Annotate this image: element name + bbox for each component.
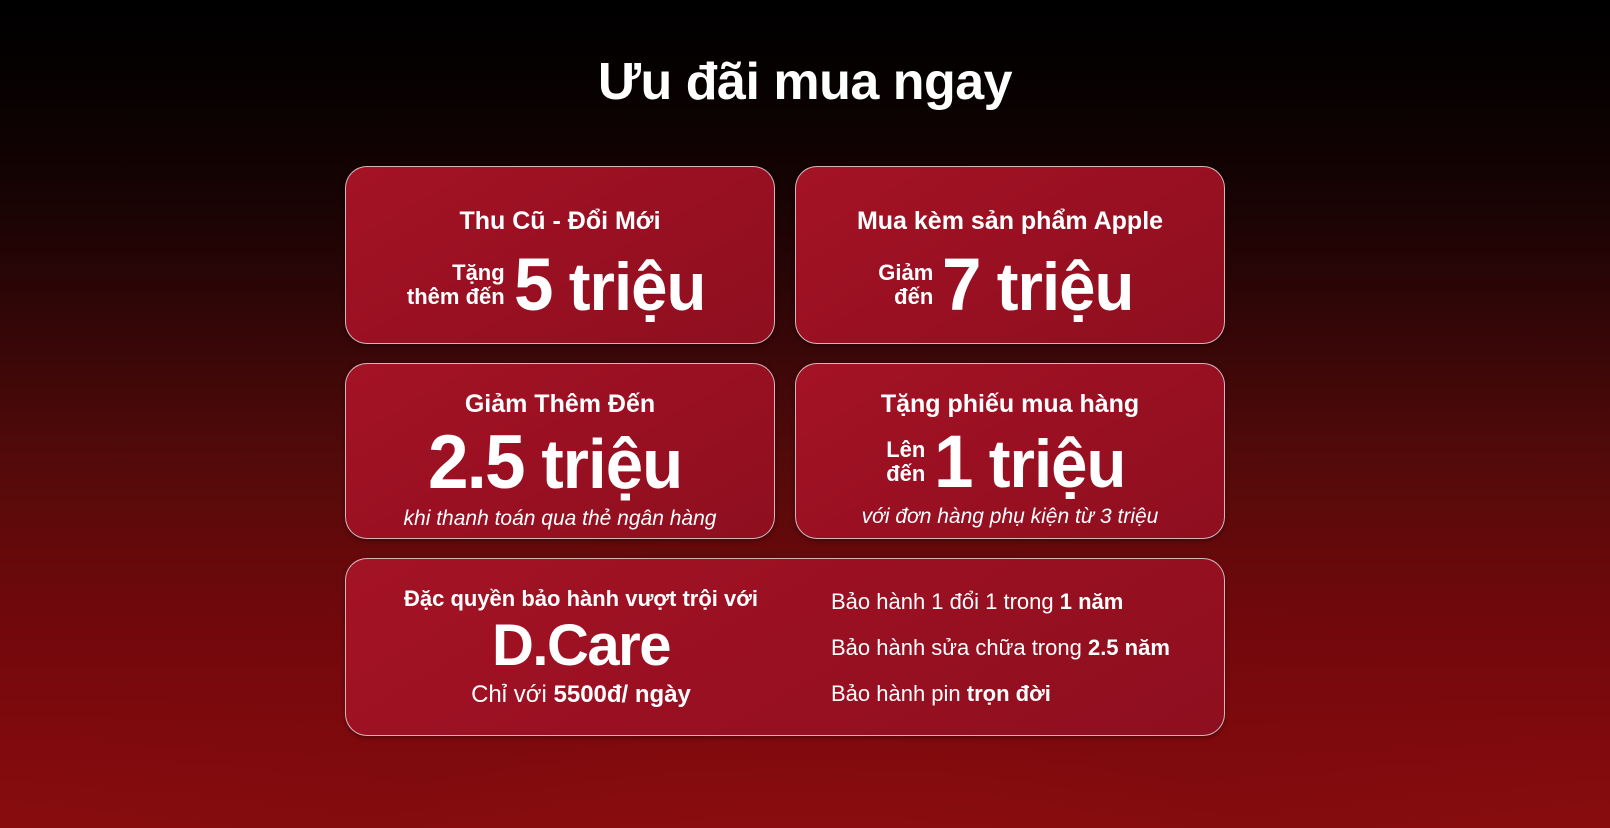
offer-amount-line: 2.5 triệu: [364, 425, 756, 501]
warranty-benefit-highlight: trọn đời: [967, 681, 1051, 706]
warranty-brand-name: D.Care: [492, 616, 670, 677]
offer-card-voucher[interactable]: Tặng phiếu mua hàng Lên đến 1 triệu với …: [795, 363, 1225, 539]
page-title: Ưu đãi mua ngay: [0, 54, 1610, 111]
offer-label-line2: đến: [886, 462, 925, 486]
offer-value-number: 2.5: [428, 420, 524, 505]
warranty-benefit-item: Bảo hành sửa chữa trong 2.5 năm: [831, 636, 1204, 660]
offer-value-unit: triệu: [541, 425, 682, 503]
warranty-benefit-highlight: 1 năm: [1060, 589, 1124, 614]
warranty-benefit-item: Bảo hành 1 đổi 1 trong 1 năm: [831, 590, 1204, 614]
offer-card-apple-bundle[interactable]: Mua kèm sản phẩm Apple Giảm đến 7 triệu: [795, 166, 1225, 344]
warranty-benefit-text: Bảo hành 1 đổi 1 trong: [831, 589, 1060, 614]
warranty-price-prefix: Chỉ với: [471, 681, 553, 708]
offer-value-number: 5: [514, 243, 552, 326]
offer-label-line1: Giảm: [878, 261, 933, 285]
promo-banner: Ưu đãi mua ngay Thu Cũ - Đổi Mới Tặng th…: [0, 0, 1610, 828]
offer-card-bank-discount[interactable]: Giảm Thêm Đến 2.5 triệu khi thanh toán q…: [345, 363, 775, 539]
offer-cards-grid: Thu Cũ - Đổi Mới Tặng thêm đến 5 triệu M…: [345, 166, 1225, 755]
warranty-benefit-text: Bảo hành sửa chữa trong: [831, 635, 1088, 660]
offer-value-number: 7: [942, 243, 980, 326]
offer-row-3: Đặc quyền bảo hành vượt trội với D.Care …: [345, 558, 1225, 736]
offer-amount-line: Giảm đến 7 triệu: [814, 248, 1206, 322]
offer-label-line2: đến: [878, 285, 933, 309]
offer-label: Tặng thêm đến: [407, 261, 505, 309]
warranty-benefits-list: Bảo hành 1 đổi 1 trong 1 năm Bảo hành sử…: [796, 573, 1204, 721]
warranty-benefit-text: Bảo hành pin: [831, 681, 967, 706]
offer-card-note: với đơn hàng phụ kiện từ 3 triệu: [862, 505, 1159, 528]
offer-amount-line: Tặng thêm đến 5 triệu: [364, 248, 756, 322]
offer-card-title: Mua kèm sản phẩm Apple: [857, 207, 1163, 236]
warranty-card-left: Đặc quyền bảo hành vượt trội với D.Care …: [366, 573, 796, 721]
offer-card-title: Giảm Thêm Đến: [465, 390, 655, 419]
offer-card-tradein[interactable]: Thu Cũ - Đổi Mới Tặng thêm đến 5 triệu: [345, 166, 775, 344]
offer-row-1: Thu Cũ - Đổi Mới Tặng thêm đến 5 triệu M…: [345, 166, 1225, 344]
warranty-price-value: 5500đ/ ngày: [554, 681, 691, 708]
offer-value: 2.5 triệu: [428, 425, 682, 501]
warranty-lead-text: Đặc quyền bảo hành vượt trội với: [404, 587, 758, 611]
offer-label-line2: thêm đến: [407, 285, 505, 309]
offer-label: Giảm đến: [878, 261, 933, 309]
offer-card-title: Thu Cũ - Đổi Mới: [459, 207, 660, 236]
offer-value-unit: triệu: [997, 249, 1134, 325]
offer-value-number: 1: [934, 420, 972, 503]
warranty-benefit-highlight: 2.5 năm: [1088, 635, 1170, 660]
offer-value: 1 triệu: [934, 425, 1125, 499]
offer-value-unit: triệu: [989, 426, 1126, 502]
offer-value: 7 triệu: [942, 248, 1133, 322]
warranty-card-dcare[interactable]: Đặc quyền bảo hành vượt trội với D.Care …: [345, 558, 1225, 736]
offer-value-unit: triệu: [568, 249, 705, 325]
warranty-benefit-item: Bảo hành pin trọn đời: [831, 682, 1204, 706]
offer-amount-line: Lên đến 1 triệu: [814, 425, 1206, 499]
offer-row-2: Giảm Thêm Đến 2.5 triệu khi thanh toán q…: [345, 363, 1225, 539]
offer-value: 5 triệu: [514, 248, 705, 322]
offer-label-line1: Tặng: [407, 261, 505, 285]
offer-label: Lên đến: [886, 438, 925, 486]
offer-card-note: khi thanh toán qua thẻ ngân hàng: [404, 507, 717, 530]
warranty-price: Chỉ với 5500đ/ ngày: [471, 681, 691, 709]
offer-label-line1: Lên: [886, 438, 925, 462]
offer-card-title: Tặng phiếu mua hàng: [881, 390, 1139, 419]
